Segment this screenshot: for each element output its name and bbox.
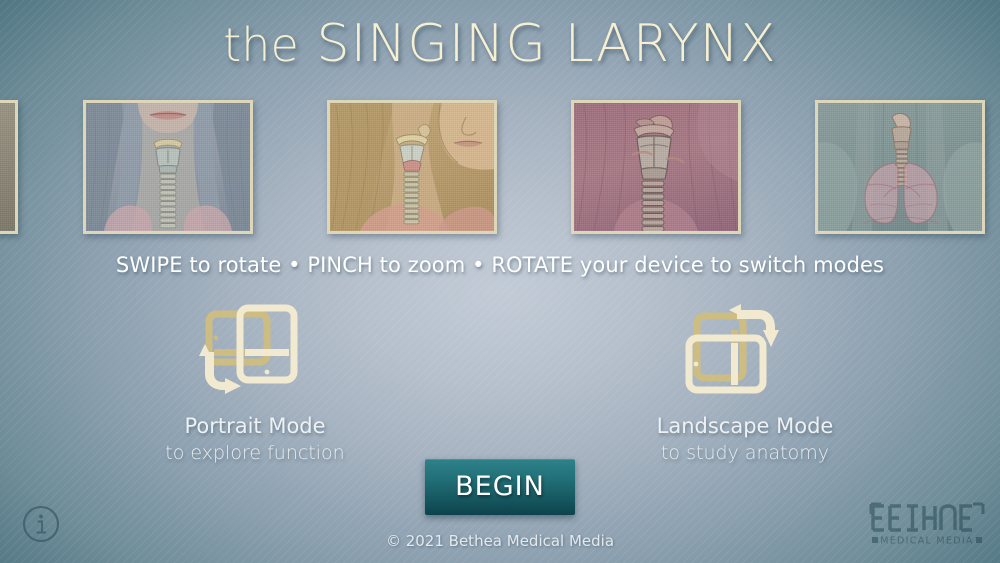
landscape-mode-subtitle: to study anatomy bbox=[595, 442, 895, 464]
landscape-rotate-icon bbox=[595, 300, 895, 400]
begin-button[interactable]: BEGIN bbox=[425, 459, 575, 515]
portrait-mode-subtitle: to explore function bbox=[105, 442, 405, 464]
portrait-rotate-icon bbox=[105, 300, 405, 400]
gesture-instructions: SWIPE to rotate • PINCH to zoom • ROTATE… bbox=[0, 253, 1000, 277]
bethea-medical-media-logo: MEDICAL MEDIA bbox=[868, 500, 986, 548]
brand-tagline: MEDICAL MEDIA bbox=[880, 536, 973, 547]
portrait-mode-block[interactable]: Portrait Mode to explore function bbox=[105, 300, 405, 464]
thumbnail-image-three-quarter-neck bbox=[330, 103, 494, 231]
app-title-main: SINGING LARYNX bbox=[317, 14, 777, 74]
thumbnail-image-anterior-neck bbox=[86, 103, 250, 231]
thumbnail-anterior-neck[interactable] bbox=[83, 100, 253, 234]
portrait-mode-title: Portrait Mode bbox=[105, 414, 405, 438]
thumbnail-lungs-trachea[interactable] bbox=[815, 100, 985, 234]
thumbnail-larynx-closeup[interactable] bbox=[571, 100, 741, 234]
copyright-text: © 2021 Bethea Medical Media bbox=[0, 532, 1000, 550]
app-title: the SINGING LARYNX bbox=[0, 14, 1000, 74]
landscape-mode-block[interactable]: Landscape Mode to study anatomy bbox=[595, 300, 895, 464]
thumbnail-image-larynx-closeup bbox=[574, 103, 738, 231]
app-title-lead: the bbox=[223, 18, 299, 72]
thumbnail-image-partial-left bbox=[0, 103, 15, 231]
info-icon[interactable] bbox=[20, 503, 62, 545]
larynx-thumbnail-carousel[interactable] bbox=[0, 100, 1000, 234]
thumbnail-three-quarter-neck[interactable] bbox=[327, 100, 497, 234]
app-splash-screen: the SINGING LARYNX bbox=[0, 0, 1000, 563]
thumbnail-image-lungs-trachea bbox=[818, 103, 982, 231]
thumbnail-partial-left[interactable] bbox=[0, 100, 18, 234]
landscape-mode-title: Landscape Mode bbox=[595, 414, 895, 438]
